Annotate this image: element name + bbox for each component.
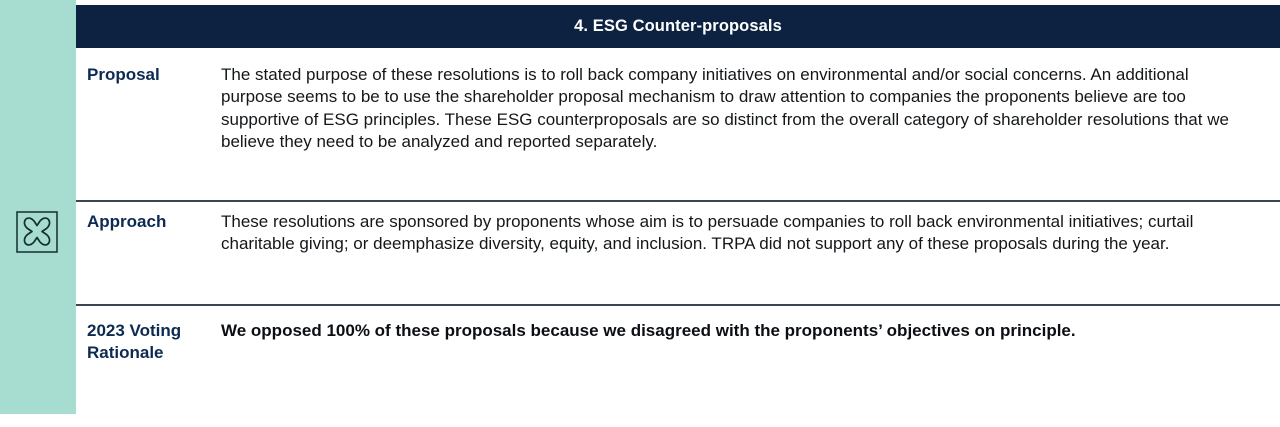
row-body-approach: These resolutions are sponsored by propo…	[221, 211, 1280, 256]
section-title-bar: 4. ESG Counter-proposals	[76, 5, 1280, 48]
row-divider-1	[76, 200, 1280, 202]
row-body-proposal: The stated purpose of these resolutions …	[221, 64, 1280, 154]
row-label-approach: Approach	[76, 211, 221, 233]
content-area: Proposal The stated purpose of these res…	[76, 48, 1280, 427]
x-mark-in-square-icon	[15, 210, 59, 254]
row-label-voting-rationale: 2023 Voting Rationale	[76, 320, 221, 364]
row-body-voting-rationale: We opposed 100% of these proposals becau…	[221, 320, 1280, 342]
row-divider-2	[76, 304, 1280, 306]
table-row: 2023 Voting Rationale We opposed 100% of…	[76, 320, 1280, 364]
table-row: Approach These resolutions are sponsored…	[76, 211, 1280, 256]
row-label-proposal: Proposal	[76, 64, 221, 86]
table-row: Proposal The stated purpose of these res…	[76, 64, 1280, 154]
left-accent-bar	[0, 0, 76, 414]
page-title: 4. ESG Counter-proposals	[574, 17, 782, 36]
